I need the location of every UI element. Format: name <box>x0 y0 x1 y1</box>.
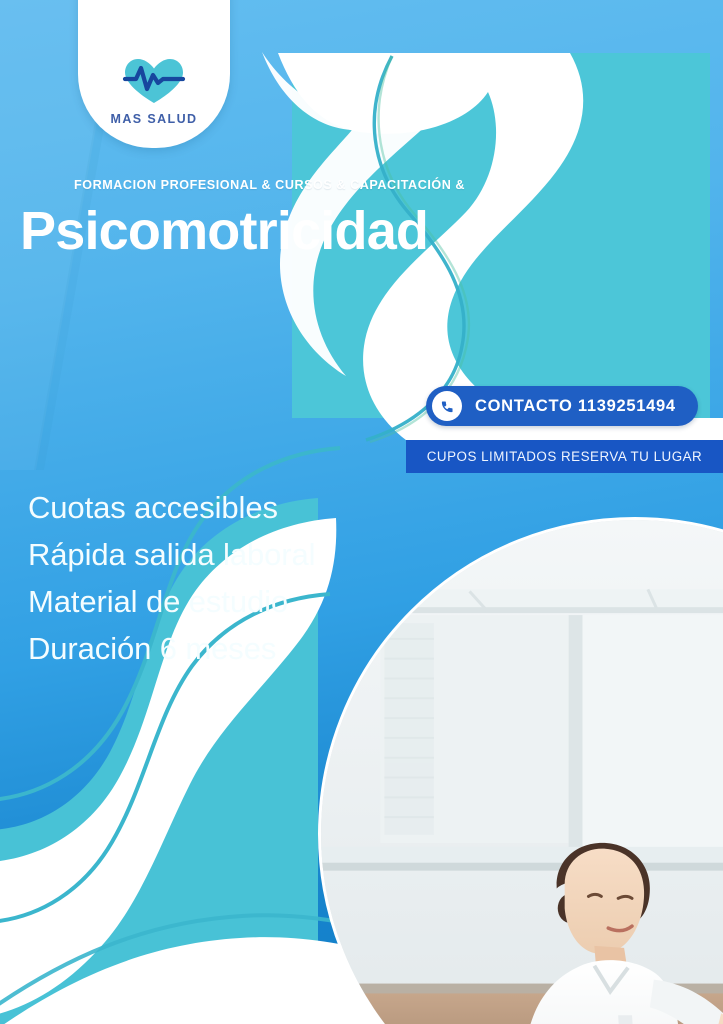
benefits-list: Cuotas accesibles Rápida salida laboral … <box>28 484 315 672</box>
contact-button[interactable]: CONTACTO 1139251494 <box>426 386 698 426</box>
kicker-text: FORMACION PROFESIONAL & CURSOS & CAPACIT… <box>74 178 610 192</box>
phone-icon <box>432 391 462 421</box>
brand-logo-card: MAS SALUD <box>78 0 230 148</box>
heart-pulse-icon <box>119 56 189 106</box>
list-item: Duración 6 meses <box>28 625 315 672</box>
photo-circle <box>318 517 723 1024</box>
list-item: Material de estudio <box>28 578 315 625</box>
brand-name: MAS SALUD <box>111 112 198 126</box>
page-title: Psicomotricidad <box>20 204 610 259</box>
reservation-band[interactable]: CUPOS LIMITADOS RESERVA TU LUGAR <box>406 440 723 473</box>
list-item: Rápida salida laboral <box>28 531 315 578</box>
flyer-canvas: MAS SALUD FORMACION PROFESIONAL & CURSOS… <box>0 0 723 1024</box>
headline-block: FORMACION PROFESIONAL & CURSOS & CAPACIT… <box>20 178 610 259</box>
reservation-label: CUPOS LIMITADOS RESERVA TU LUGAR <box>427 449 702 464</box>
contact-label: CONTACTO 1139251494 <box>475 397 676 416</box>
list-item: Cuotas accesibles <box>28 484 315 531</box>
